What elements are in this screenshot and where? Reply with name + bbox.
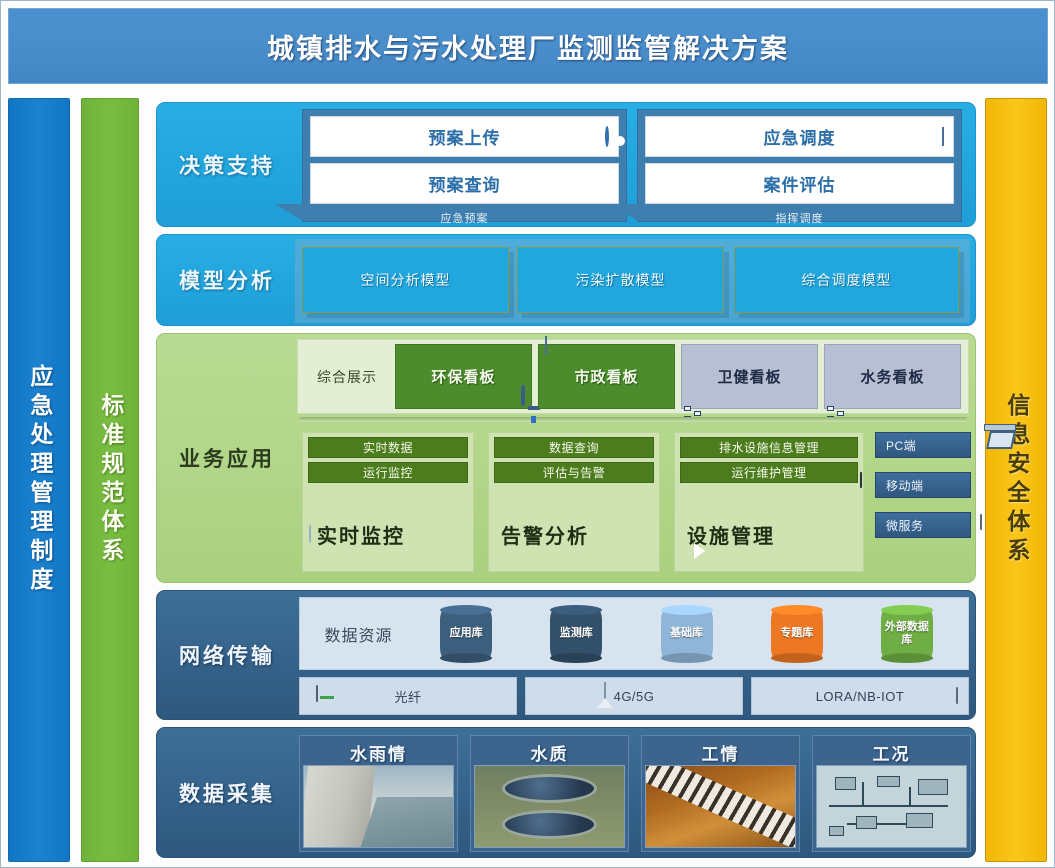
globe-icon: [309, 525, 311, 543]
band-business-label: 业务应用: [157, 334, 297, 582]
database-item-thematic[interactable]: 专题库: [742, 610, 852, 658]
business-tag[interactable]: 排水设施信息管理: [680, 437, 858, 458]
decision-item-label: 预案上传: [429, 124, 501, 149]
treatment-plant-photo: [474, 765, 625, 848]
business-tag[interactable]: 数据查询: [494, 437, 654, 458]
kanban-card-water-affairs[interactable]: 水务看板: [824, 344, 961, 409]
band-network-transmission: 网络传输 数据资源 应用库 监测库 基础库: [156, 590, 976, 720]
business-column-main[interactable]: 实时监控: [303, 503, 473, 565]
decision-item-plan-query[interactable]: 预案查询: [310, 163, 619, 204]
database-item-application[interactable]: 应用库: [411, 610, 521, 658]
band-decision-support: 决策支持 预案上传 预案查询 应急预案 应急调度: [156, 102, 976, 227]
data-card-label: 工况: [816, 739, 967, 765]
kanban-card-municipal[interactable]: 市政看板: [538, 344, 675, 409]
schematic-diagram: [816, 765, 967, 848]
cylinder-icon: 基础库: [661, 610, 713, 658]
model-box-label: 综合调度模型: [802, 270, 892, 290]
decision-arrow-icon: [610, 204, 638, 221]
cylinder-icon: 应用库: [440, 610, 492, 658]
page-title: 城镇排水与污水处理厂监测监管解决方案: [267, 27, 789, 66]
network-link-label: LORA/NB-IOT: [816, 689, 905, 704]
center-stack: 决策支持 预案上传 预案查询 应急预案 应急调度: [156, 98, 976, 862]
client-button-label: 移动端: [886, 477, 924, 494]
decision-item-label: 案件评估: [764, 171, 836, 196]
pillar-standard-label: 标准规范体系: [97, 393, 123, 567]
client-button-pc[interactable]: PC端: [875, 432, 971, 458]
client-button-label: 微服务: [886, 517, 924, 534]
kanban-card-health[interactable]: 卫健看板: [681, 344, 818, 409]
pillar-information-security: 信息安全体系: [985, 98, 1047, 862]
grid-icon: [545, 337, 547, 354]
model-box-integrated-dispatch[interactable]: 综合调度模型: [734, 247, 959, 313]
business-tag[interactable]: 运行维护管理: [680, 462, 858, 483]
band-model-analysis: 模型分析 空间分析模型 污染扩散模型 综合调度模型: [156, 234, 976, 326]
band-data-collection: 数据采集 水雨情 水质 工情 工况: [156, 727, 976, 858]
model-box-spatial[interactable]: 空间分析模型: [302, 247, 509, 313]
business-column-main[interactable]: 设施管理: [675, 503, 863, 565]
kanban-card-environment[interactable]: 环保看板: [395, 344, 532, 409]
kanban-card-label: 卫健看板: [717, 366, 781, 387]
network-link-row: 光纤 4G/5G LORA/NB-IOT: [299, 677, 969, 715]
monitor-icon: [521, 387, 525, 404]
band-network-label: 网络传输: [157, 591, 297, 719]
sensor-icon: [956, 688, 958, 703]
router-icon: [316, 686, 318, 701]
data-card-water-quality[interactable]: 水质: [470, 735, 629, 852]
business-column-title: 告警分析: [501, 520, 589, 549]
band-data-label: 数据采集: [157, 728, 297, 857]
data-card-label: 水质: [474, 739, 625, 765]
data-card-operating-condition[interactable]: 工况: [812, 735, 971, 852]
decision-item-label: 应急调度: [764, 124, 836, 149]
decision-item-emergency-dispatch[interactable]: 应急调度: [645, 116, 954, 157]
data-resource-strip: 数据资源 应用库 监测库 基础库: [299, 597, 969, 670]
mouse-icon: [980, 515, 982, 529]
network-link-label: 光纤: [394, 687, 421, 706]
kanban-lead-label: 综合展示: [302, 344, 392, 409]
band-business-application: 业务应用 综合展示 环保看板 市政看板 卫健看板: [156, 333, 976, 583]
database-item-external[interactable]: 外部数据库: [852, 610, 962, 658]
model-box-label: 污染扩散模型: [576, 270, 666, 290]
database-label: 专题库: [780, 627, 813, 640]
client-button-label: PC端: [886, 437, 916, 454]
cylinder-icon: 专题库: [771, 610, 823, 658]
decision-item-label: 预案查询: [429, 171, 501, 196]
decision-group-command-dispatch: 应急调度 案件评估 指挥调度: [637, 109, 962, 222]
kanban-marker-icon: [531, 416, 536, 423]
business-column-title: 实时监控: [317, 520, 405, 549]
database-label: 外部数据库: [881, 621, 933, 646]
phone-icon: [860, 473, 862, 487]
business-column-facility: 排水设施信息管理 运行维护管理 设施管理: [674, 432, 864, 572]
kanban-card-label: 市政看板: [574, 366, 638, 387]
pillar-standards-system: 标准规范体系: [81, 98, 139, 862]
band-model-label: 模型分析: [157, 235, 297, 325]
network-link-cellular[interactable]: 4G/5G: [525, 677, 743, 715]
kanban-card-label: 环保看板: [431, 366, 495, 387]
pillar-security-label: 信息安全体系: [1003, 393, 1029, 567]
network-link-fiber[interactable]: 光纤: [299, 677, 517, 715]
pillar-emergency-management: 应急处理管理制度: [8, 98, 70, 862]
kanban-strip: 综合展示 环保看板 市政看板 卫健看板 水务看板: [297, 339, 969, 414]
data-resource-lead-label: 数据资源: [306, 622, 411, 646]
canal-photo: [303, 765, 454, 848]
data-card-label: 水雨情: [303, 739, 454, 765]
decision-item-plan-upload[interactable]: 预案上传: [310, 116, 619, 157]
data-card-label: 工情: [645, 739, 796, 765]
business-column-main[interactable]: 告警分析: [489, 503, 659, 565]
model-box-pollution-diffusion[interactable]: 污染扩散模型: [517, 247, 724, 313]
dial-icon: [605, 128, 609, 146]
page-title-banner: 城镇排水与污水处理厂监测监管解决方案: [8, 8, 1048, 84]
client-button-microservice[interactable]: 微服务: [875, 512, 971, 538]
data-card-rainfall[interactable]: 水雨情: [299, 735, 458, 852]
network-link-label: 4G/5G: [614, 689, 655, 704]
business-column-alarm: 数据查询 评估与告警 告警分析: [488, 432, 660, 572]
kanban-divider: [299, 417, 967, 422]
cylinder-icon: 监测库: [550, 610, 602, 658]
business-tag[interactable]: 实时数据: [308, 437, 468, 458]
pillar-emergency-label: 应急处理管理制度: [26, 364, 52, 596]
decision-group-emergency-plan: 预案上传 预案查询 应急预案: [302, 109, 627, 222]
kanban-card-label: 水务看板: [860, 366, 924, 387]
cylinder-icon: 外部数据库: [881, 610, 933, 658]
data-card-works-status[interactable]: 工情: [641, 735, 800, 852]
database-label: 监测库: [560, 627, 593, 640]
database-label: 应用库: [450, 627, 483, 640]
data-card-list: 水雨情 水质 工情 工况: [299, 735, 971, 852]
decision-group-footer: 指挥调度: [645, 210, 954, 226]
decision-item-case-assessment[interactable]: 案件评估: [645, 163, 954, 204]
architecture-diagram: 城镇排水与污水处理厂监测监管解决方案 应急处理管理制度 标准规范体系 信息安全体…: [0, 0, 1055, 868]
client-endpoint-list: PC端 移动端 微服务: [875, 432, 971, 572]
business-column-realtime: 实时数据 运行监控 实时监控: [302, 432, 474, 572]
decision-arrow-icon: [275, 204, 303, 221]
decision-group-footer: 应急预案: [310, 210, 619, 226]
model-box-label: 空间分析模型: [361, 270, 451, 290]
pipeline-photo: [645, 765, 796, 848]
business-tag[interactable]: 评估与告警: [494, 462, 654, 483]
client-button-mobile[interactable]: 移动端: [875, 472, 971, 498]
business-tag[interactable]: 运行监控: [308, 462, 468, 483]
table-icon: [942, 128, 944, 146]
database-label: 基础库: [670, 627, 703, 640]
database-item-monitoring[interactable]: 监测库: [521, 610, 631, 658]
database-item-basic[interactable]: 基础库: [631, 610, 741, 658]
network-link-lora[interactable]: LORA/NB-IOT: [751, 677, 969, 715]
